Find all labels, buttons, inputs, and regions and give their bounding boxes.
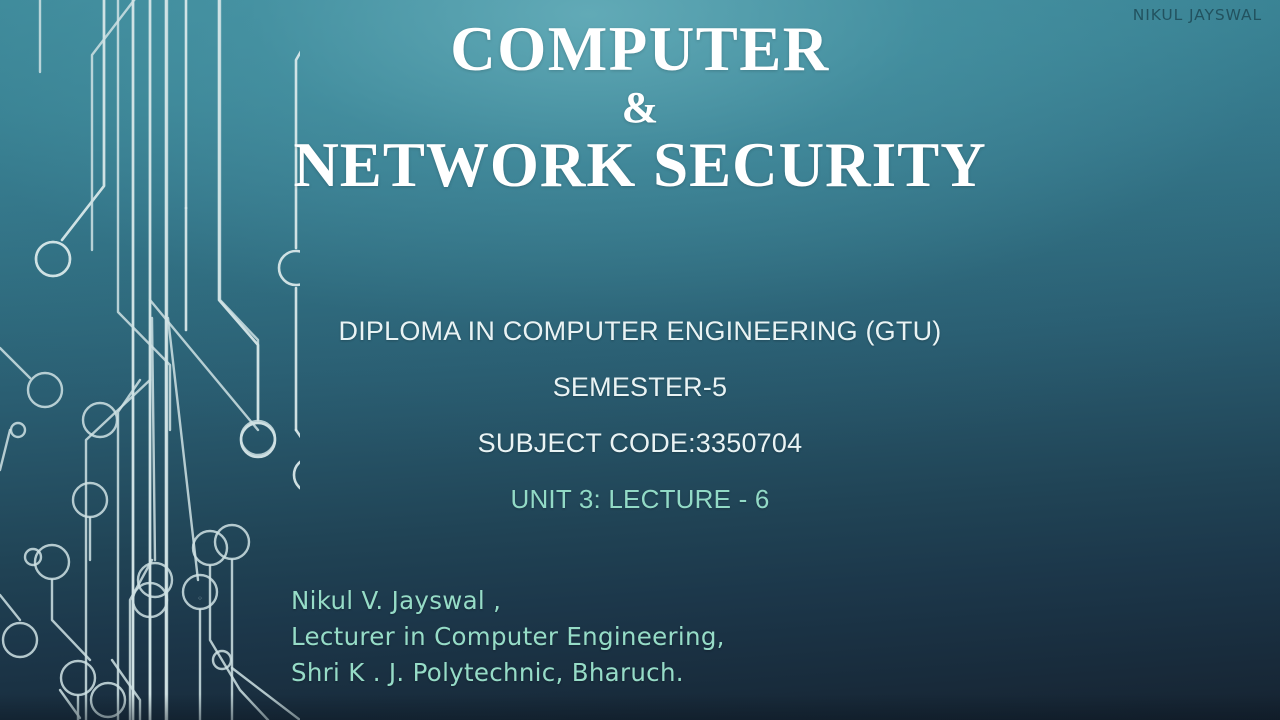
subtitle-program: DIPLOMA IN COMPUTER ENGINEERING (GTU) xyxy=(0,316,1280,347)
subtitle-subject-code: SUBJECT CODE:3350704 xyxy=(0,428,1280,459)
subtitle-unit-lecture: UNIT 3: LECTURE - 6 xyxy=(0,484,1280,515)
bottom-vignette xyxy=(0,694,1280,720)
title-line-computer: COMPUTER xyxy=(0,18,1280,80)
presenter-name: Nikul V. Jayswal , xyxy=(291,583,725,619)
title-line-ampersand: & xyxy=(0,86,1280,130)
title-line-network-security: NETWORK SECURITY xyxy=(0,134,1280,196)
page-title: COMPUTER & NETWORK SECURITY xyxy=(0,18,1280,196)
presenter-institute: Shri K . J. Polytechnic, Bharuch. xyxy=(291,655,725,691)
subtitle-semester: SEMESTER-5 xyxy=(0,372,1280,403)
presenter-role: Lecturer in Computer Engineering, xyxy=(291,619,725,655)
title-slide: NIKUL JAYSWAL COMPUTER & NETWORK SECURIT… xyxy=(0,0,1280,720)
subtitle-block: DIPLOMA IN COMPUTER ENGINEERING (GTU) SE… xyxy=(0,316,1280,515)
presenter-block: Nikul V. Jayswal , Lecturer in Computer … xyxy=(291,583,725,690)
